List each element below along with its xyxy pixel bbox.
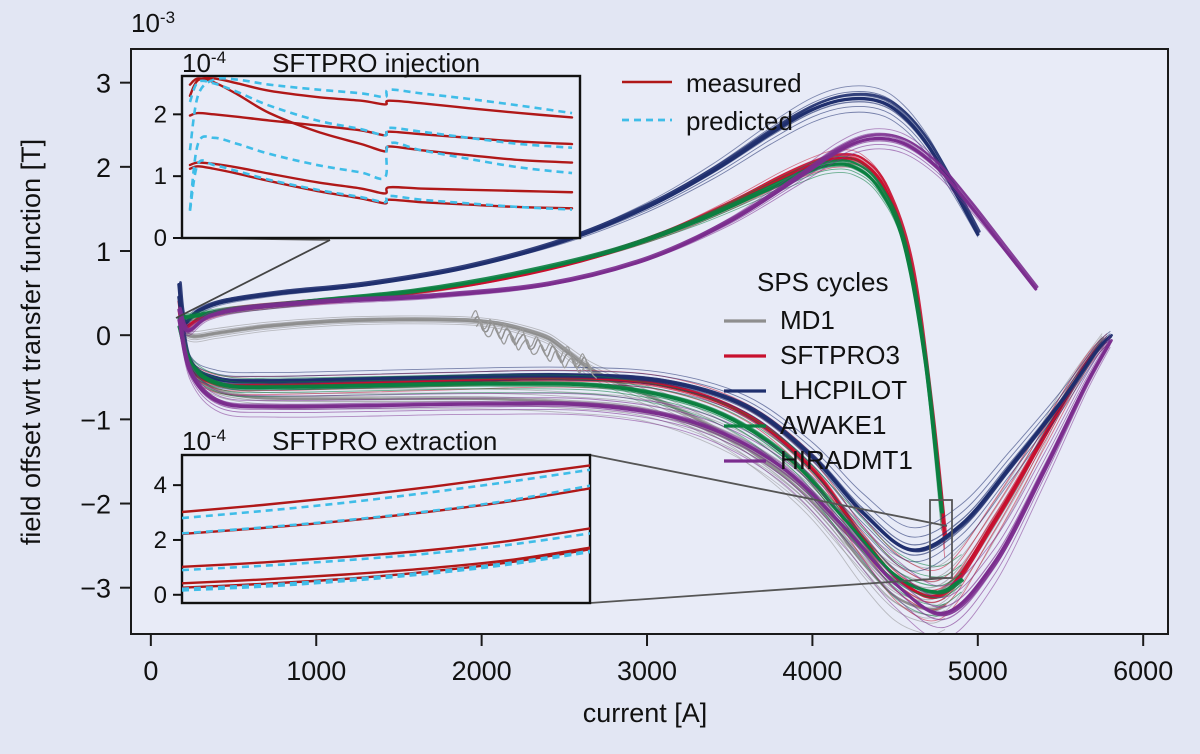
legend-label-lhcpilot: LHCPILOT <box>780 375 907 405</box>
inset-extraction-title: SFTPRO extraction <box>272 426 497 456</box>
y-tick-label: 3 <box>96 69 111 99</box>
figure-root: 10-3 3210−1−2−3 010002000300040005000600… <box>0 0 1200 754</box>
x-tick-label: 6000 <box>1113 656 1173 686</box>
inset-y-tick-label: 4 <box>154 472 167 499</box>
x-tick-label: 2000 <box>452 656 512 686</box>
y-tick-label: 1 <box>96 237 111 267</box>
y-tick-label: 2 <box>96 153 111 183</box>
legend-cycles-title: SPS cycles <box>757 267 889 297</box>
legend-label-awake1: AWAKE1 <box>780 410 886 440</box>
y-axis-label: field offset wrt transfer function [T] <box>16 139 46 545</box>
inset-injection-frame <box>182 76 580 238</box>
y-tick-label: −1 <box>80 405 111 435</box>
x-tick-label: 5000 <box>948 656 1008 686</box>
inset-y-tick-label: 1 <box>154 163 167 190</box>
y-tick-label: −2 <box>80 490 111 520</box>
inset-injection-title: SFTPRO injection <box>272 48 480 78</box>
x-tick-label: 4000 <box>782 656 842 686</box>
inset-y-tick-label: 2 <box>154 527 167 554</box>
legend-label-md1: MD1 <box>780 305 835 335</box>
inset-sftpro-injection: 10-4 SFTPRO injection 012 <box>154 48 580 252</box>
legend-label-predicted: predicted <box>686 106 793 136</box>
legend-label-hiradmt1: HIRADMT1 <box>780 445 913 475</box>
x-tick-label: 1000 <box>286 656 346 686</box>
x-axis-label: current [A] <box>583 698 708 728</box>
inset-y-tick-label: 0 <box>154 225 167 252</box>
inset-y-tick-label: 0 <box>154 582 167 609</box>
x-tick-label: 3000 <box>617 656 677 686</box>
y-tick-label: −3 <box>80 574 111 604</box>
y-tick-label: 0 <box>96 321 111 351</box>
legend-label-sftpro3: SFTPRO3 <box>780 340 900 370</box>
x-tick-label: 0 <box>143 656 158 686</box>
legend-label-measured: measured <box>686 68 802 98</box>
inset-y-tick-label: 2 <box>154 101 167 128</box>
